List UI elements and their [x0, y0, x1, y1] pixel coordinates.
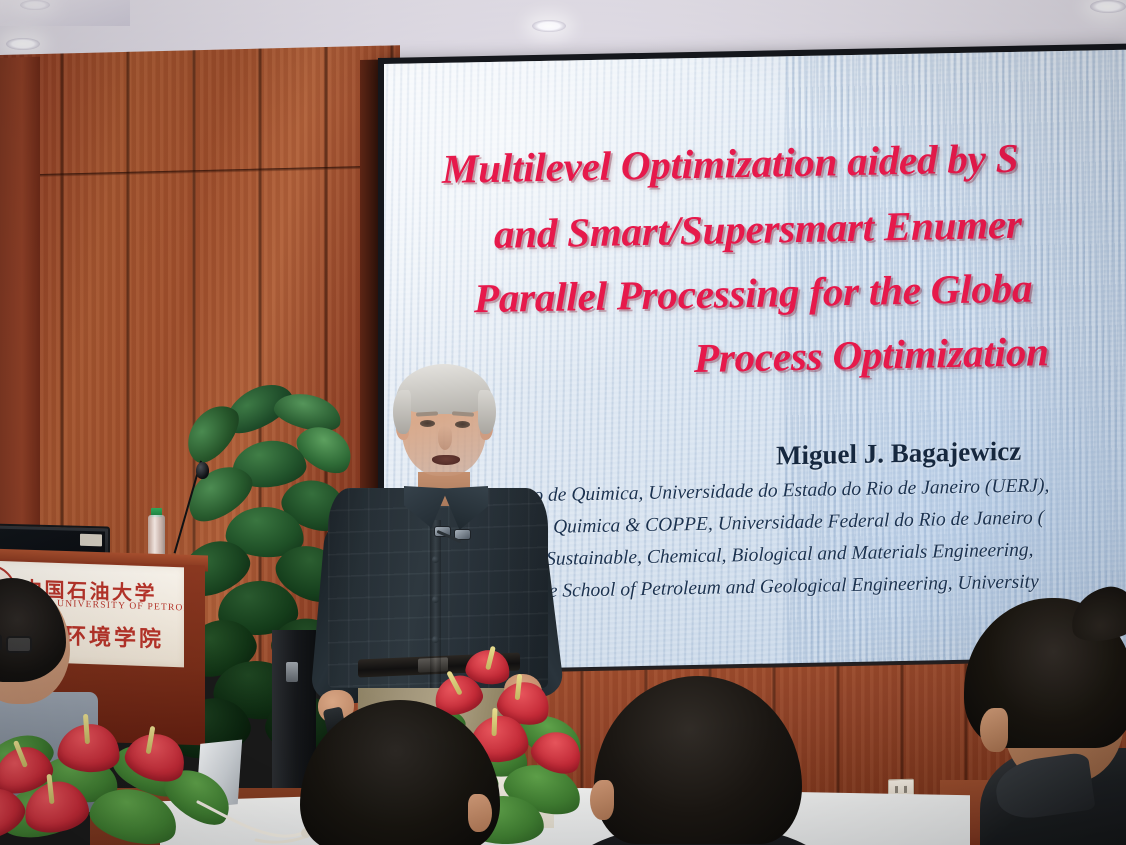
audience-ear [590, 780, 614, 820]
hanging-glasses-icon [434, 526, 474, 542]
presenter-eye-left [420, 420, 435, 427]
glasses-lens [0, 634, 2, 651]
downlight-3 [1090, 0, 1126, 13]
audience-member-center [594, 676, 802, 845]
anthurium-spadix [83, 714, 90, 744]
microphone-head [196, 462, 209, 479]
presenter-hair-side-left [393, 390, 411, 434]
plant-stand-latch [286, 662, 298, 682]
presenter-hair-side-right [478, 390, 496, 434]
presenter-nose [438, 426, 452, 450]
slide-title-line-4: Process Optimization [694, 319, 1126, 382]
downlight-2 [532, 20, 566, 32]
slide-title-line-2: and Smart/Supersmart Enumer [494, 195, 1126, 258]
slide-title-line-3: Parallel Processing for the Globa [474, 260, 1126, 323]
audience-hair [594, 676, 802, 844]
audience-member-left [0, 586, 78, 746]
glasses-lens [6, 636, 32, 653]
eyeglasses-icon [0, 634, 34, 656]
audience-member-center-left [300, 700, 500, 845]
slide-title-line-1: Multilevel Optimization aided by S [442, 130, 1126, 193]
presenter-shirt-button [432, 596, 439, 603]
slide-affiliation-1: tituto de Quimica, Universidade do Estad… [502, 475, 1049, 508]
audience-ear [980, 708, 1008, 752]
slide-affiliation-2: ola de Quimica & COPPE, Universidade Fed… [500, 507, 1044, 539]
audience-ear [468, 794, 492, 832]
downlight-1 [6, 38, 40, 50]
slide-author-name: Miguel J. Bagajewicz [776, 436, 1021, 472]
wood-wall-joint [0, 165, 400, 178]
presenter-mouth [432, 455, 460, 465]
presenter-eye-right [455, 421, 470, 428]
audience-hair [0, 578, 66, 682]
downlight-4 [20, 0, 50, 10]
slide-affiliation-3: ol of Sustainable, Chemical, Biological … [506, 540, 1034, 572]
presentation-photo-scene: Multilevel Optimization aided by S and S… [0, 0, 1126, 845]
presenter-shirt-button [432, 556, 439, 563]
audience-member-right [950, 598, 1126, 845]
monitor-label [80, 534, 102, 547]
